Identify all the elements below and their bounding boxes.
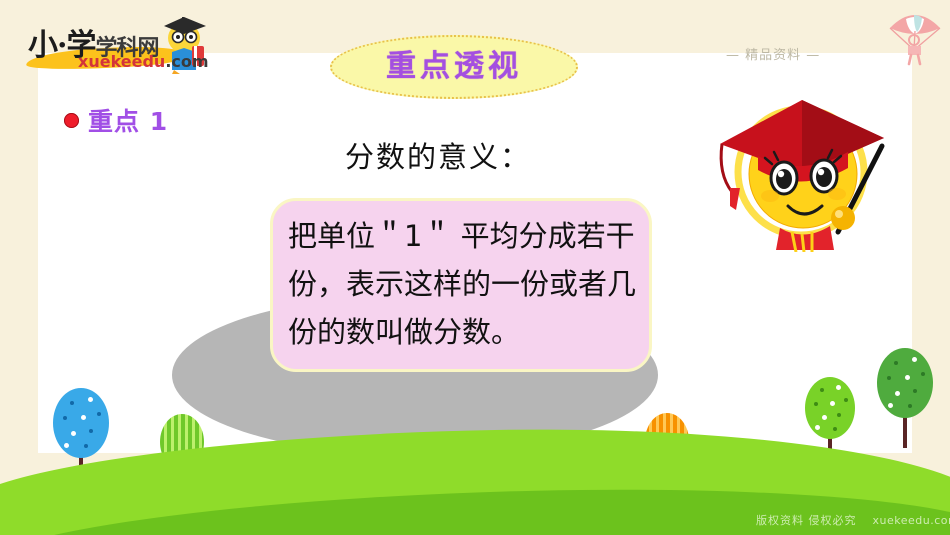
tree-dot — [887, 376, 891, 380]
tree-dot — [64, 443, 69, 448]
tree-dot — [84, 444, 88, 448]
tree-dot — [913, 389, 917, 393]
logo-url: xuekeedu.com — [78, 52, 209, 71]
parachute-icon — [884, 2, 946, 66]
tree-dot — [81, 415, 86, 420]
footer-copyright: 版权资料 侵权必究 — [756, 512, 857, 528]
tree-dot — [89, 429, 93, 433]
tree-dot — [912, 357, 917, 362]
tree-dot — [894, 361, 898, 365]
tree-dot — [814, 402, 818, 406]
tree-dot — [836, 385, 841, 390]
logo-url-name: xuekeedu — [78, 52, 165, 71]
tree-dot — [97, 412, 101, 416]
tree-trunk — [903, 414, 907, 448]
logo-url-domain: .com — [165, 52, 208, 71]
footer: 版权资料 侵权必究 xuekeedu.com — [756, 512, 950, 528]
site-logo[interactable]: 小·学学科网 xuekeedu.com — [24, 12, 214, 74]
tree-crown — [805, 377, 855, 439]
tree-dot — [88, 397, 93, 402]
tree-crown — [877, 348, 933, 418]
definition-text: 把单位＂1＂ 平均分成若干份，表示这样的一份或者几份的数叫做分数。 — [288, 212, 648, 356]
tree-dot — [837, 413, 841, 417]
tree-dot — [70, 401, 74, 405]
keypoint-marker: 重点 1 — [64, 102, 168, 138]
mascot-graduate-smiley-icon — [706, 82, 896, 252]
tree-dot — [63, 416, 67, 420]
tree-darkgreen-dotted — [877, 348, 933, 452]
tree-dot — [833, 427, 837, 431]
premium-label: — 精品资料 — — [726, 44, 820, 63]
tree-dot — [895, 391, 900, 396]
tree-dot — [905, 375, 910, 380]
tree-dot — [815, 425, 820, 430]
banner-title-ellipse: 重点透视 — [330, 35, 578, 99]
tree-crown — [53, 388, 109, 458]
keypoint-label: 重点 1 — [88, 102, 168, 138]
tree-dot — [71, 431, 76, 436]
tree-dot — [822, 415, 827, 420]
banner-title-text: 重点透视 — [386, 52, 522, 82]
tree-dot — [830, 401, 835, 406]
bullet-dot-icon — [64, 113, 79, 128]
footer-site: xuekeedu.com — [873, 514, 950, 527]
slide-canvas: 小·学学科网 xuekeedu.com 重点透视 — 精品资料 — 重点 1 — [0, 0, 950, 535]
tree-dot — [844, 398, 848, 402]
tree-dot — [908, 404, 912, 408]
tree-dot — [888, 403, 893, 408]
page-title: 分数的意义： — [345, 134, 531, 176]
tree-dot — [820, 388, 824, 392]
tree-dot — [921, 372, 925, 376]
